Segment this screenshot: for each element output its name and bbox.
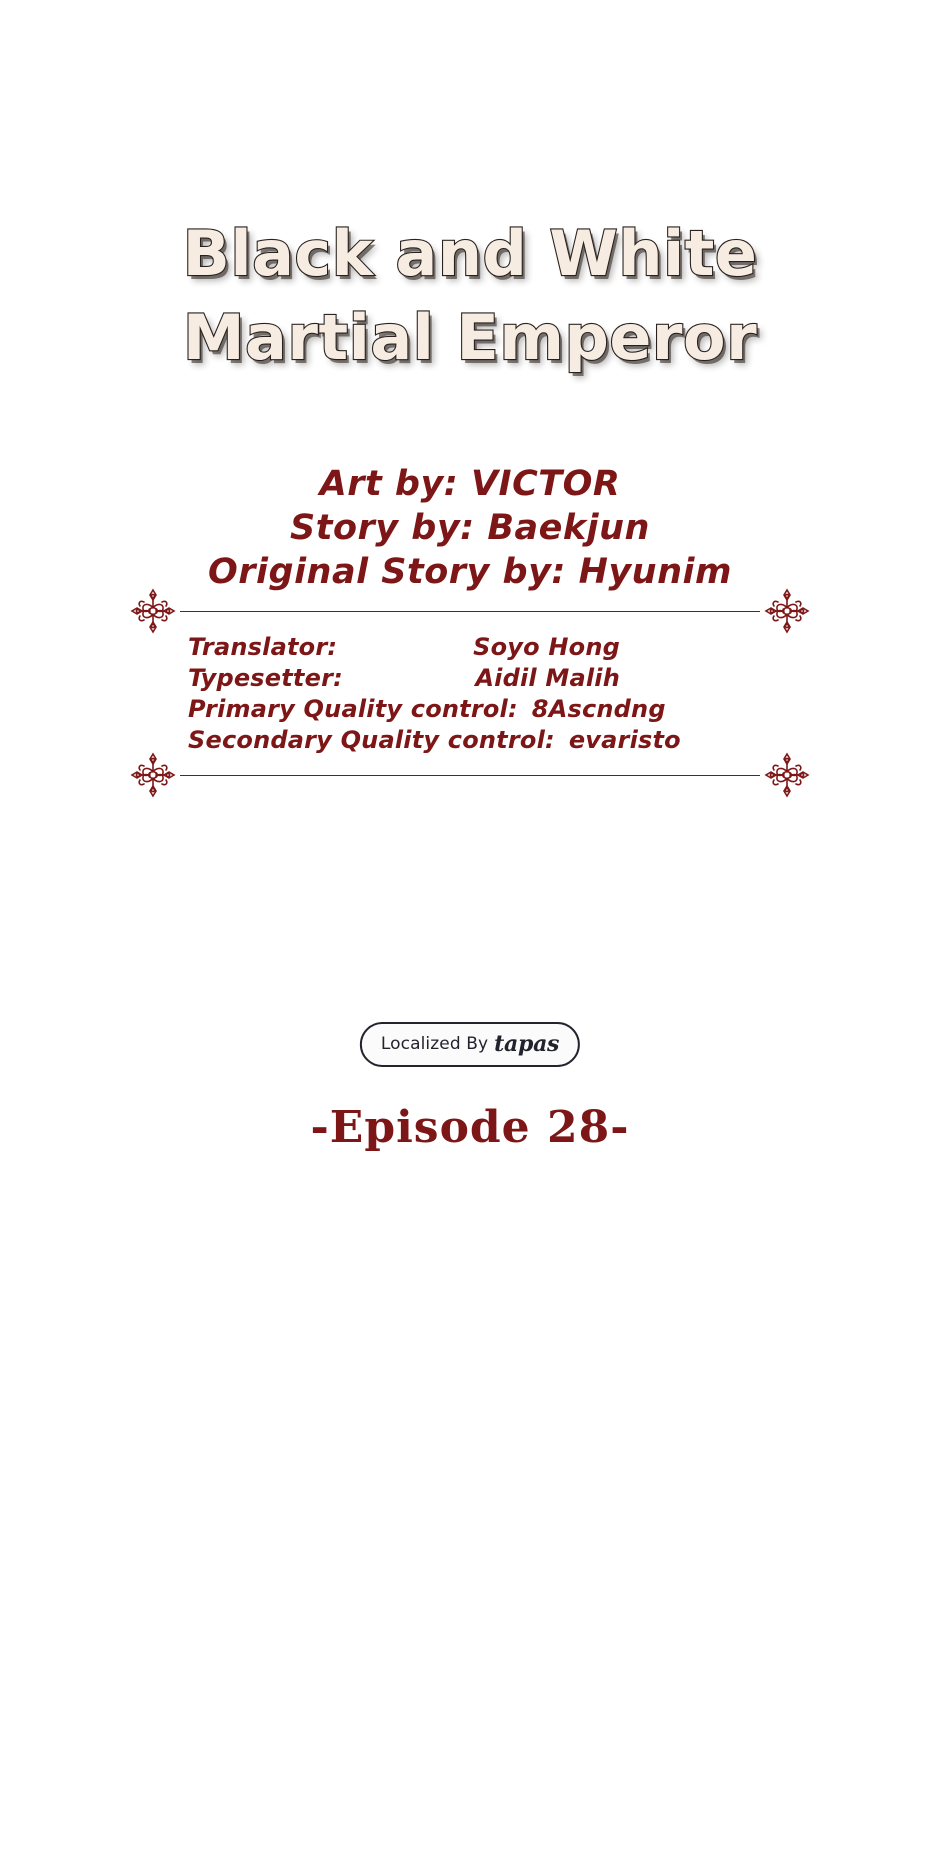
staff-role: Typesetter: (188, 663, 343, 694)
series-title-line-2: Martial Emperor (0, 296, 940, 380)
staff-role: Primary Quality control: (188, 694, 518, 725)
credit-story-by: Story by: Baekjun (0, 506, 940, 550)
episode-label: -Episode 28- (0, 1098, 940, 1158)
staff-name: Aidil Malih (461, 663, 620, 694)
divider-bottom (128, 748, 812, 802)
credit-art-by: Art by: VICTOR (0, 462, 940, 506)
tapas-logo-text: tapas (494, 1031, 559, 1057)
floral-cross-ornament (762, 586, 812, 636)
divider-rule (180, 611, 760, 612)
table-row: Primary Quality control: 8Ascndng (188, 694, 620, 725)
badge-label: Localized By (381, 1034, 488, 1054)
table-row: Typesetter: Aidil Malih (188, 663, 620, 694)
creator-credits: Art by: VICTOR Story by: Baekjun Origina… (0, 462, 940, 594)
localized-by-tapas-badge[interactable]: Localized By tapas (360, 1022, 580, 1067)
staff-name: 8Ascndng (518, 694, 666, 725)
staff-credits-table: Translator: Soyo Hong Typesetter: Aidil … (188, 632, 620, 756)
credits-page: Black and White Martial Emperor Art by: … (0, 0, 940, 1866)
series-title-line-1: Black and White (0, 212, 940, 296)
series-title: Black and White Martial Emperor (0, 212, 940, 380)
floral-cross-ornament (128, 750, 178, 800)
floral-cross-ornament (762, 750, 812, 800)
floral-cross-ornament (128, 586, 178, 636)
table-row: Translator: Soyo Hong (188, 632, 620, 663)
staff-name: Soyo Hong (459, 632, 620, 663)
staff-role: Translator: (188, 632, 337, 663)
divider-top (128, 584, 812, 638)
divider-rule (180, 775, 760, 776)
